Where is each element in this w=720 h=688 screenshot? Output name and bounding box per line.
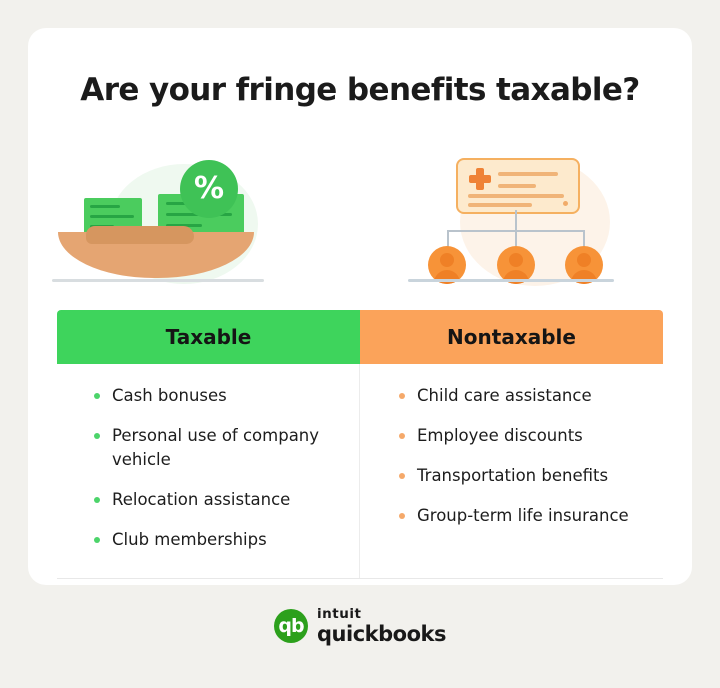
benefits-comparison-table: Taxable Nontaxable Cash bonuses Personal… — [57, 310, 663, 579]
hand-thumb-shape — [86, 226, 194, 244]
content-card: Are your fringe benefits taxable? % — [28, 28, 692, 585]
brand-intuit-label: intuit — [317, 608, 446, 622]
page-title: Are your fringe benefits taxable? — [28, 72, 692, 108]
list-item: Relocation assistance — [92, 488, 341, 512]
nontaxable-illustration — [386, 146, 686, 296]
column-header-nontaxable: Nontaxable — [360, 310, 663, 364]
benefits-card-icon — [456, 158, 580, 214]
list-item: Club memberships — [92, 528, 341, 552]
table-header-row: Taxable Nontaxable — [57, 310, 663, 364]
ground-line — [408, 279, 614, 282]
taxable-list: Cash bonuses Personal use of company veh… — [92, 384, 341, 552]
list-item: Personal use of company vehicle — [92, 424, 341, 472]
list-item: Cash bonuses — [92, 384, 341, 408]
nontaxable-list: Child care assistance Employee discounts… — [397, 384, 645, 528]
brand-quickbooks-label: quickbooks — [317, 624, 446, 645]
connector-stem-center — [515, 210, 517, 246]
list-item: Employee discounts — [397, 424, 645, 448]
nontaxable-column: Child care assistance Employee discounts… — [360, 364, 663, 578]
quickbooks-logo-icon: qb — [274, 609, 308, 643]
brand-footer: qb intuit quickbooks — [0, 608, 720, 645]
illustration-row: % — [28, 146, 692, 296]
list-item: Group-term life insurance — [397, 504, 645, 528]
column-header-taxable: Taxable — [57, 310, 360, 364]
list-item: Transportation benefits — [397, 464, 645, 488]
brand-wordmark: intuit quickbooks — [317, 608, 446, 645]
table-body: Cash bonuses Personal use of company veh… — [57, 364, 663, 579]
connector-bar — [447, 230, 585, 232]
taxable-column: Cash bonuses Personal use of company veh… — [57, 364, 360, 578]
card-chip-dot — [563, 201, 568, 206]
medical-cross-icon-bar — [469, 175, 491, 183]
percent-coin-icon: % — [180, 160, 238, 218]
list-item: Child care assistance — [397, 384, 645, 408]
taxable-illustration: % — [34, 146, 334, 296]
infographic-page: Are your fringe benefits taxable? % — [0, 0, 720, 688]
ground-line — [52, 279, 264, 282]
